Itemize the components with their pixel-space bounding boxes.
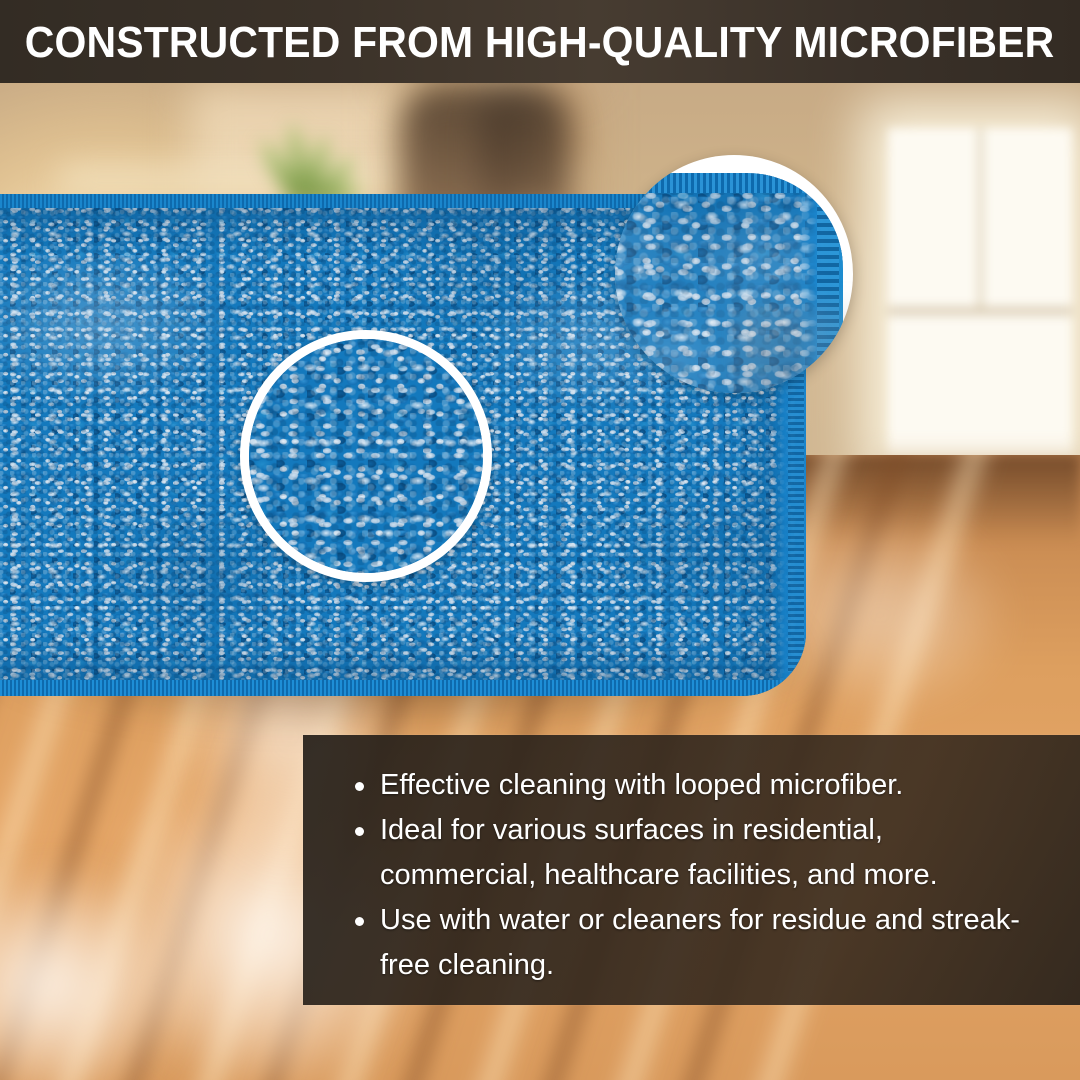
feature-item: Use with water or cleaners for residue a… <box>353 898 1046 988</box>
feature-item: Effective cleaning with looped microfibe… <box>353 763 1046 808</box>
center-detail-circle <box>240 330 492 582</box>
center-detail-zoom <box>249 339 483 573</box>
product-feature-image: CONSTRUCTED FROM HIGH-QUALITY MICROFIBER… <box>0 0 1080 1080</box>
header-banner: CONSTRUCTED FROM HIGH-QUALITY MICROFIBER <box>0 0 1080 83</box>
corner-detail-shadow <box>735 305 853 393</box>
window <box>888 128 1072 460</box>
feature-panel: Effective cleaning with looped microfibe… <box>303 735 1080 1005</box>
feature-item: Ideal for various surfaces in residentia… <box>353 808 1046 898</box>
page-title: CONSTRUCTED FROM HIGH-QUALITY MICROFIBER <box>25 21 1055 65</box>
pad-bottom-binding <box>0 680 806 696</box>
corner-detail-circle <box>615 155 853 393</box>
feature-list: Effective cleaning with looped microfibe… <box>353 763 1046 988</box>
